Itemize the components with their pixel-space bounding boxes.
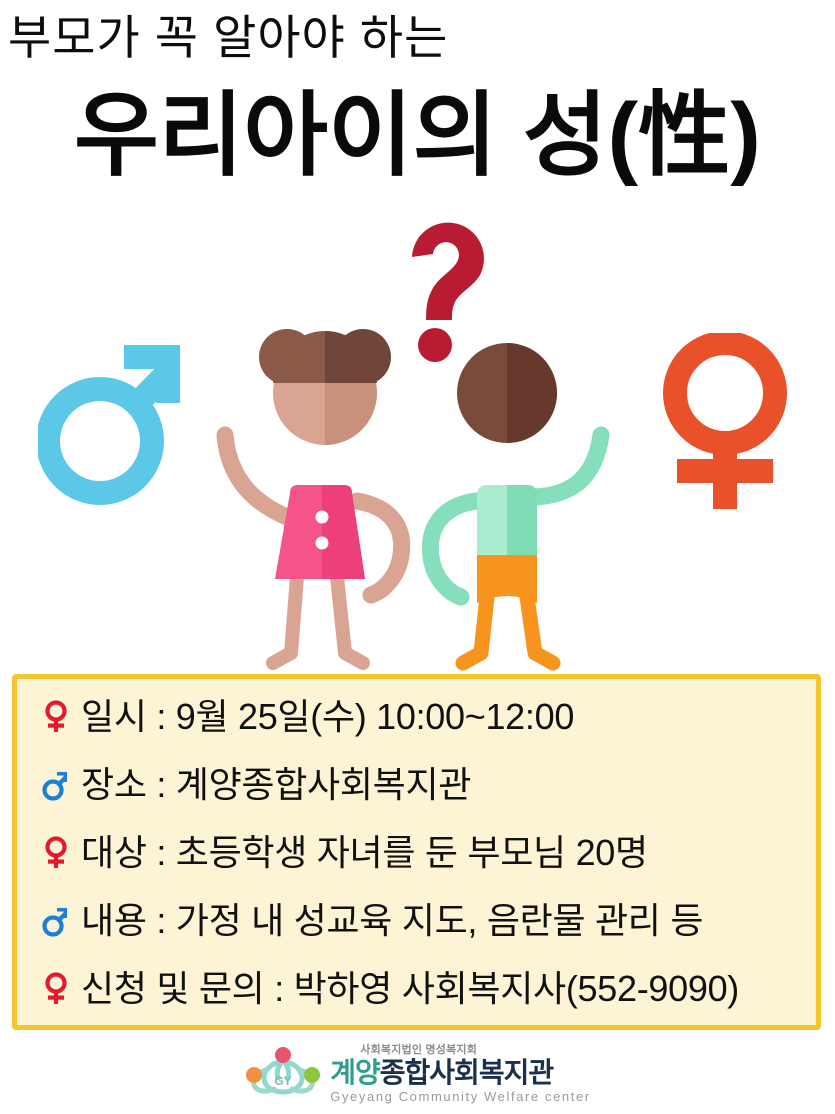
- event-details-box: 일시 : 9월 25일(수) 10:00~12:00 장소 : 계양종합사회복지…: [12, 674, 821, 1030]
- illustration-area: [0, 205, 835, 675]
- event-detail-text: 대상 : 초등학생 자녀를 둔 부모님 20명: [73, 831, 648, 875]
- venus-symbol-icon: [39, 700, 73, 734]
- event-detail-row: 장소 : 계양종합사회복지관: [17, 751, 816, 819]
- venus-symbol-icon: [650, 333, 800, 518]
- gyeyang-people-logo-icon: GY: [244, 1044, 322, 1105]
- event-detail-row: 신청 및 문의 : 박하영 사회복지사(552-9090): [17, 955, 816, 1023]
- poster-subtitle: 부모가 꼭 알아야 하는: [8, 8, 448, 68]
- footer-logo: GY 사회복지법인 명성복지회 계양종합사회복지관 Gyeyang Commun…: [0, 1034, 835, 1114]
- logo-name-kr: 계양종합사회복지관: [330, 1059, 553, 1087]
- logo-tagline: 사회복지법인 명성복지회: [330, 1045, 477, 1056]
- venus-symbol-icon: [39, 836, 73, 870]
- svg-text:GY: GY: [275, 1074, 292, 1088]
- event-detail-text: 내용 : 가정 내 성교육 지도, 음란물 관리 등: [73, 899, 703, 943]
- mars-symbol-icon: [38, 333, 188, 513]
- event-detail-text: 장소 : 계양종합사회복지관: [73, 763, 471, 807]
- poster-title: 우리아이의 성(性): [0, 78, 835, 194]
- event-detail-text: 일시 : 9월 25일(수) 10:00~12:00: [73, 695, 574, 739]
- girl-figure: [225, 329, 402, 663]
- boy-figure: [430, 343, 601, 663]
- logo-name-en: Gyeyang Community Welfare center: [330, 1090, 591, 1103]
- children-illustration: [205, 305, 635, 675]
- event-detail-text: 신청 및 문의 : 박하영 사회복지사(552-9090): [73, 967, 739, 1011]
- event-detail-row: 일시 : 9월 25일(수) 10:00~12:00: [17, 683, 816, 751]
- mars-symbol-icon: [39, 768, 73, 802]
- venus-symbol-icon: [39, 972, 73, 1006]
- logo-name-navy: 종합사회복지관: [380, 1057, 553, 1088]
- mars-symbol-icon: [39, 904, 73, 938]
- event-detail-row: 대상 : 초등학생 자녀를 둔 부모님 20명: [17, 819, 816, 887]
- logo-name-teal: 계양: [330, 1057, 380, 1088]
- event-detail-row: 내용 : 가정 내 성교육 지도, 음란물 관리 등: [17, 887, 816, 955]
